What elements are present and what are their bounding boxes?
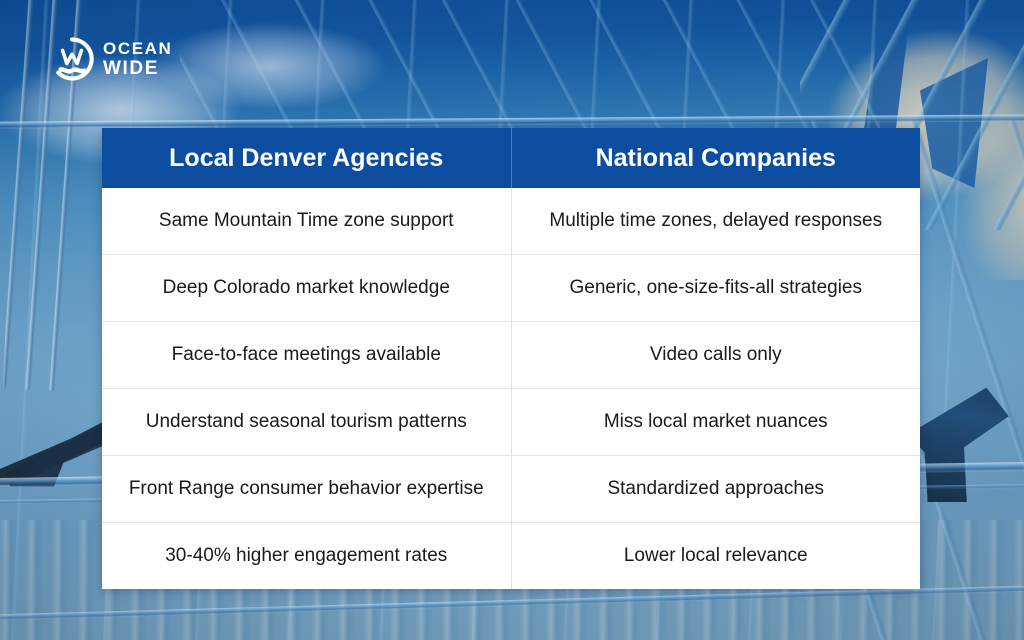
cell-national-1: Multiple time zones, delayed responses xyxy=(511,188,920,255)
cell-local-2: Deep Colorado market knowledge xyxy=(102,255,511,322)
cell-local-5: Front Range consumer behavior expertise xyxy=(102,456,511,523)
table-row: Face-to-face meetings available Video ca… xyxy=(102,322,920,389)
brand-logo-text: OCEAN WIDE xyxy=(103,40,172,78)
table-head: Local Denver Agencies National Companies xyxy=(102,128,920,188)
brand-name-line-1: OCEAN xyxy=(103,40,172,57)
comparison-table-container: Local Denver Agencies National Companies… xyxy=(102,128,920,589)
cell-national-6: Lower local relevance xyxy=(511,523,920,590)
table-body: Same Mountain Time zone support Multiple… xyxy=(102,188,920,589)
comparison-table: Local Denver Agencies National Companies… xyxy=(102,128,920,589)
cell-national-3: Video calls only xyxy=(511,322,920,389)
column-header-local-denver-agencies: Local Denver Agencies xyxy=(102,128,511,188)
cell-national-4: Miss local market nuances xyxy=(511,389,920,456)
cell-national-5: Standardized approaches xyxy=(511,456,920,523)
cell-national-2: Generic, one-size-fits-all strategies xyxy=(511,255,920,322)
table-row: Same Mountain Time zone support Multiple… xyxy=(102,188,920,255)
table-row: Front Range consumer behavior expertise … xyxy=(102,456,920,523)
table-row: Understand seasonal tourism patterns Mis… xyxy=(102,389,920,456)
table-row: 30-40% higher engagement rates Lower loc… xyxy=(102,523,920,590)
cell-local-1: Same Mountain Time zone support xyxy=(102,188,511,255)
table-row: Deep Colorado market knowledge Generic, … xyxy=(102,255,920,322)
brand-name-line-2: WIDE xyxy=(103,59,172,78)
brand-logo[interactable]: OCEAN WIDE xyxy=(50,37,172,81)
cell-local-3: Face-to-face meetings available xyxy=(102,322,511,389)
column-header-national-companies: National Companies xyxy=(511,128,920,188)
cell-local-6: 30-40% higher engagement rates xyxy=(102,523,511,590)
slide-canvas: OCEAN WIDE Local Denver Agencies Nationa… xyxy=(0,0,1024,640)
cell-local-4: Understand seasonal tourism patterns xyxy=(102,389,511,456)
ocean-wave-circle-logo-icon xyxy=(50,37,94,81)
table-header-row: Local Denver Agencies National Companies xyxy=(102,128,920,188)
